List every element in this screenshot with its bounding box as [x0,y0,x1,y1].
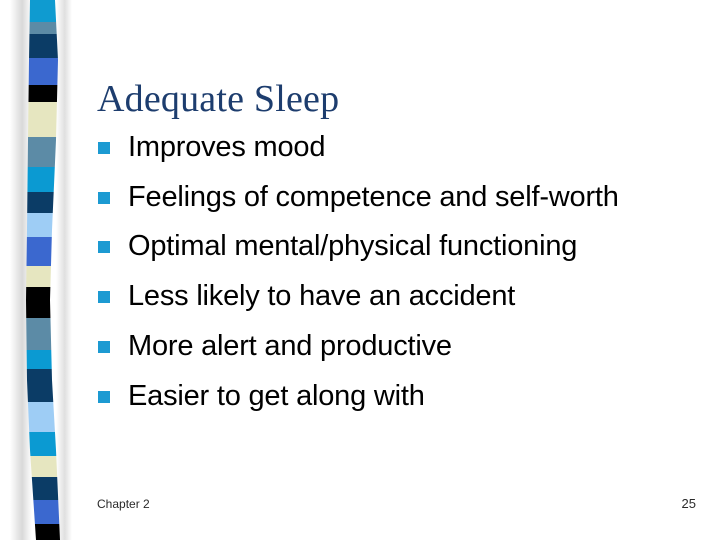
list-item: Optimal mental/physical functioning [94,227,708,267]
bullet-square-icon [98,241,110,253]
list-item: Less likely to have an accident [94,277,708,317]
bullet-square-icon [98,192,110,204]
list-item: Improves mood [94,128,708,168]
color-stripe-svg [0,0,90,540]
list-item-text: Feelings of competence and self-worth [128,181,619,213]
list-item-text: Optimal mental/physical functioning [128,230,577,262]
list-item-text: Improves mood [128,131,325,163]
list-item: Easier to get along with [94,377,708,417]
bullet-square-icon [98,142,110,154]
bullet-square-icon [98,391,110,403]
slide-page-number: 25 [682,496,696,511]
list-item-text: Easier to get along with [128,380,425,412]
slide-canvas: Adequate Sleep Improves moodFeelings of … [0,0,720,540]
slide-title: Adequate Sleep [97,79,677,121]
decorative-color-stripe [0,0,90,540]
footer-chapter-label: Chapter 2 [97,497,150,511]
stripe-shadow-right [56,0,72,540]
bullet-square-icon [98,291,110,303]
list-item-text: More alert and productive [128,330,452,362]
list-item: Feelings of competence and self-worth [94,178,708,218]
list-item: More alert and productive [94,327,708,367]
bullet-list: Improves moodFeelings of competence and … [94,128,708,416]
bullet-square-icon [98,341,110,353]
list-item-text: Less likely to have an accident [128,280,515,312]
